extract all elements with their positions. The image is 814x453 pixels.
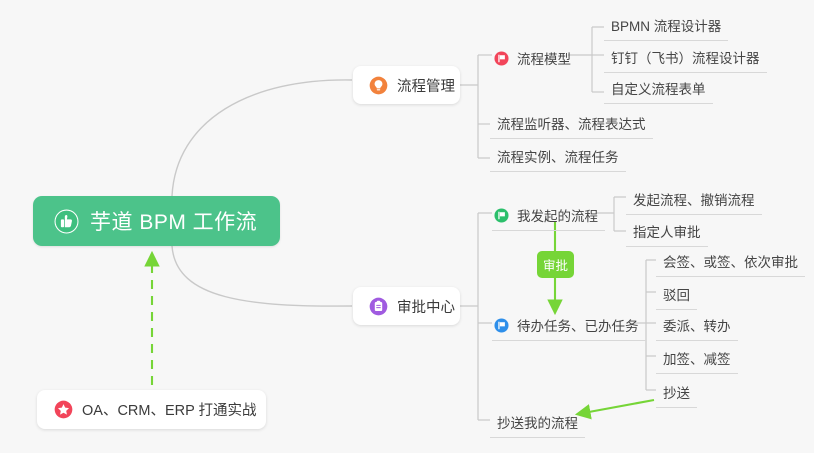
lightbulb-icon: [369, 76, 388, 95]
topic-countersign-approval[interactable]: 会签、或签、依次审批: [656, 248, 805, 277]
topic-custom-form[interactable]: 自定义流程表单: [604, 75, 713, 104]
star-icon: [54, 400, 73, 419]
branch-node-flow-management[interactable]: 流程管理: [353, 66, 460, 104]
topic-my-initiated[interactable]: 我发起的流程: [492, 202, 605, 231]
branch-label-flow-management: 流程管理: [397, 75, 455, 96]
topic-add-remove-sign[interactable]: 加签、减签: [656, 345, 738, 374]
topic-instance-task[interactable]: 流程实例、流程任务: [490, 143, 626, 172]
integration-card-label: OA、CRM、ERP 打通实战: [82, 399, 257, 420]
branch-node-approval-center[interactable]: 审批中心: [353, 287, 460, 325]
topic-cc-to-me[interactable]: 抄送我的流程: [490, 409, 585, 438]
flag-icon: [494, 208, 509, 223]
thumbs-up-icon: [54, 209, 79, 234]
integration-card[interactable]: OA、CRM、ERP 打通实战: [37, 390, 266, 429]
topic-cc[interactable]: 抄送: [656, 379, 697, 408]
topic-process-model[interactable]: 流程模型: [492, 45, 578, 73]
topic-assignee-approval[interactable]: 指定人审批: [626, 218, 708, 247]
wire-root-to-approval: [172, 246, 352, 306]
wire-root-to-flow: [172, 80, 352, 196]
flag-icon: [494, 51, 509, 66]
root-node[interactable]: 芋道 BPM 工作流: [33, 196, 280, 246]
approval-annotation-label: 审批: [543, 255, 568, 274]
approval-annotation-badge: 审批: [537, 251, 574, 278]
flag-icon: [494, 318, 509, 333]
topic-bpmn-designer[interactable]: BPMN 流程设计器: [604, 12, 728, 41]
topic-start-cancel-process[interactable]: 发起流程、撤销流程: [626, 186, 762, 215]
topic-reject[interactable]: 驳回: [656, 281, 697, 310]
topic-dingtalk-designer[interactable]: 钉钉（飞书）流程设计器: [604, 44, 767, 73]
topic-label-my-initiated: 我发起的流程: [517, 205, 598, 225]
topic-label-process-model: 流程模型: [517, 48, 571, 68]
root-label: 芋道 BPM 工作流: [90, 206, 257, 236]
topic-todo-done-tasks[interactable]: 待办任务、已办任务: [492, 312, 646, 341]
arrow-cc-to-my-cc: [578, 400, 654, 414]
topic-label-todo-done-tasks: 待办任务、已办任务: [517, 315, 639, 335]
mindmap-canvas: 芋道 BPM 工作流 流程管理 流程模型 BPMN 流程设计器 钉钉（飞书）流程…: [0, 0, 814, 453]
topic-listener-expression[interactable]: 流程监听器、流程表达式: [490, 110, 653, 139]
branch-label-approval-center: 审批中心: [397, 296, 455, 317]
topic-delegate-transfer[interactable]: 委派、转办: [656, 312, 738, 341]
clipboard-icon: [369, 297, 388, 316]
